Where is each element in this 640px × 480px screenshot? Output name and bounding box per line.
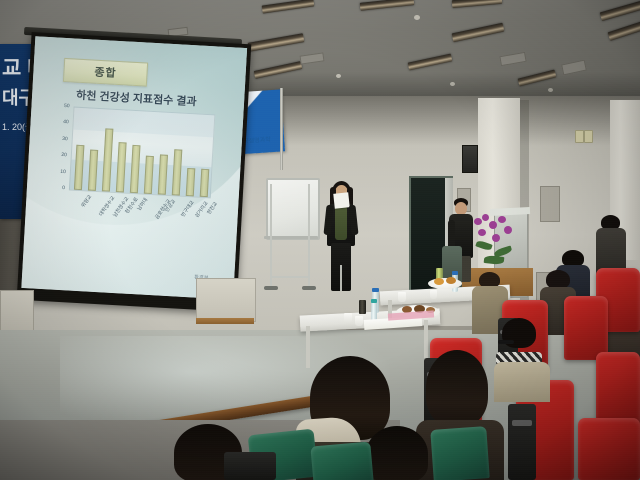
chart-bar xyxy=(158,155,169,195)
bottle-cap xyxy=(372,288,379,292)
presenter-paper xyxy=(333,192,349,208)
chart-bar xyxy=(116,143,127,193)
food-item xyxy=(434,278,444,285)
chart-y-tick-label: 40 xyxy=(53,119,69,126)
slide-section-banner-label: 종합 xyxy=(94,64,117,81)
chart-y-tick-label: 50 xyxy=(53,102,69,109)
wall-control-panel xyxy=(540,186,560,222)
slide-section-banner: 종합 xyxy=(63,58,148,87)
paper-cup[interactable] xyxy=(430,290,437,299)
audience-member xyxy=(596,215,626,275)
banner-pole xyxy=(280,88,283,170)
orchid-leaf xyxy=(484,255,505,265)
whiteboard[interactable] xyxy=(266,178,320,240)
food-item xyxy=(446,277,456,284)
chart-bar xyxy=(130,145,141,193)
whiteboard-stand-leg xyxy=(308,184,310,288)
whiteboard-stand-leg xyxy=(270,184,272,288)
whiteboard-caster xyxy=(302,286,316,290)
orchid-bloom xyxy=(482,214,489,221)
chart-bar xyxy=(199,169,209,198)
chart-bars-container xyxy=(70,108,214,198)
chart-y-tick-label: 20 xyxy=(51,152,67,159)
orchid-arrangement xyxy=(472,212,518,268)
ceiling-sensor xyxy=(414,15,420,20)
projection-screen-surface: 종합 하천 건강성 지표점수 결과 01020304050 위량교대학정수교남천… xyxy=(21,36,247,299)
presenter-top xyxy=(335,206,347,240)
paper-cup[interactable] xyxy=(344,313,352,323)
orchid-bloom xyxy=(498,216,506,223)
chart-y-tick-label: 10 xyxy=(50,168,66,175)
orchid-leaf xyxy=(475,239,492,251)
chart-bar xyxy=(88,149,99,191)
eyeglasses xyxy=(498,340,514,344)
food-plate xyxy=(428,278,462,289)
beverage-can[interactable] xyxy=(359,300,366,314)
cabinet-base-trim xyxy=(196,318,254,324)
orchid-bloom xyxy=(492,234,500,242)
orchid-bloom xyxy=(474,218,482,225)
orchid-bloom xyxy=(504,226,512,234)
auditorium-seat[interactable] xyxy=(578,418,640,480)
seat-highlight xyxy=(512,420,532,426)
chart-bar xyxy=(186,168,196,197)
bottle-cap xyxy=(452,271,458,275)
bottle-cap xyxy=(371,299,377,303)
front-wall-cabinet xyxy=(196,278,256,322)
presenter-standing xyxy=(323,181,359,295)
projection-screen-frame: 종합 하천 건강성 지표점수 결과 01020304050 위량교대학정수교남천… xyxy=(17,32,252,312)
paper-cup[interactable] xyxy=(355,316,363,326)
wall-speaker xyxy=(462,145,478,173)
chart-bar xyxy=(172,149,183,196)
front-row-seat-shadow xyxy=(224,452,276,480)
whiteboard-stand-crossbar xyxy=(270,276,310,278)
chart-bar xyxy=(74,145,85,190)
orchid-bloom xyxy=(478,229,486,236)
front-row-seat[interactable] xyxy=(430,426,489,480)
auditorium-seat[interactable] xyxy=(564,296,608,360)
paper-cup[interactable] xyxy=(398,292,406,302)
orchid-bloom xyxy=(489,221,497,229)
front-row-seat[interactable] xyxy=(310,441,373,480)
wall-outlet[interactable] xyxy=(575,130,584,143)
chart-bar xyxy=(144,156,155,194)
wall-outlet[interactable] xyxy=(584,130,593,143)
chart-plot-area xyxy=(69,107,215,199)
auditorium-seat-back[interactable] xyxy=(508,404,536,480)
chart-y-tick-label: 30 xyxy=(52,135,68,142)
whiteboard-caster xyxy=(264,286,278,290)
chart-bar xyxy=(102,129,114,192)
chart-y-tick-label: 0 xyxy=(49,184,65,191)
presenter-leg-gap xyxy=(340,265,342,291)
auditorium-seat[interactable] xyxy=(596,352,640,428)
hair xyxy=(426,350,488,426)
photo-scene: 교 대 대구 · 1. 20(금) 1 표회 표회 구대학교 · 한국생명과학 … xyxy=(0,0,640,480)
hair xyxy=(366,426,428,480)
